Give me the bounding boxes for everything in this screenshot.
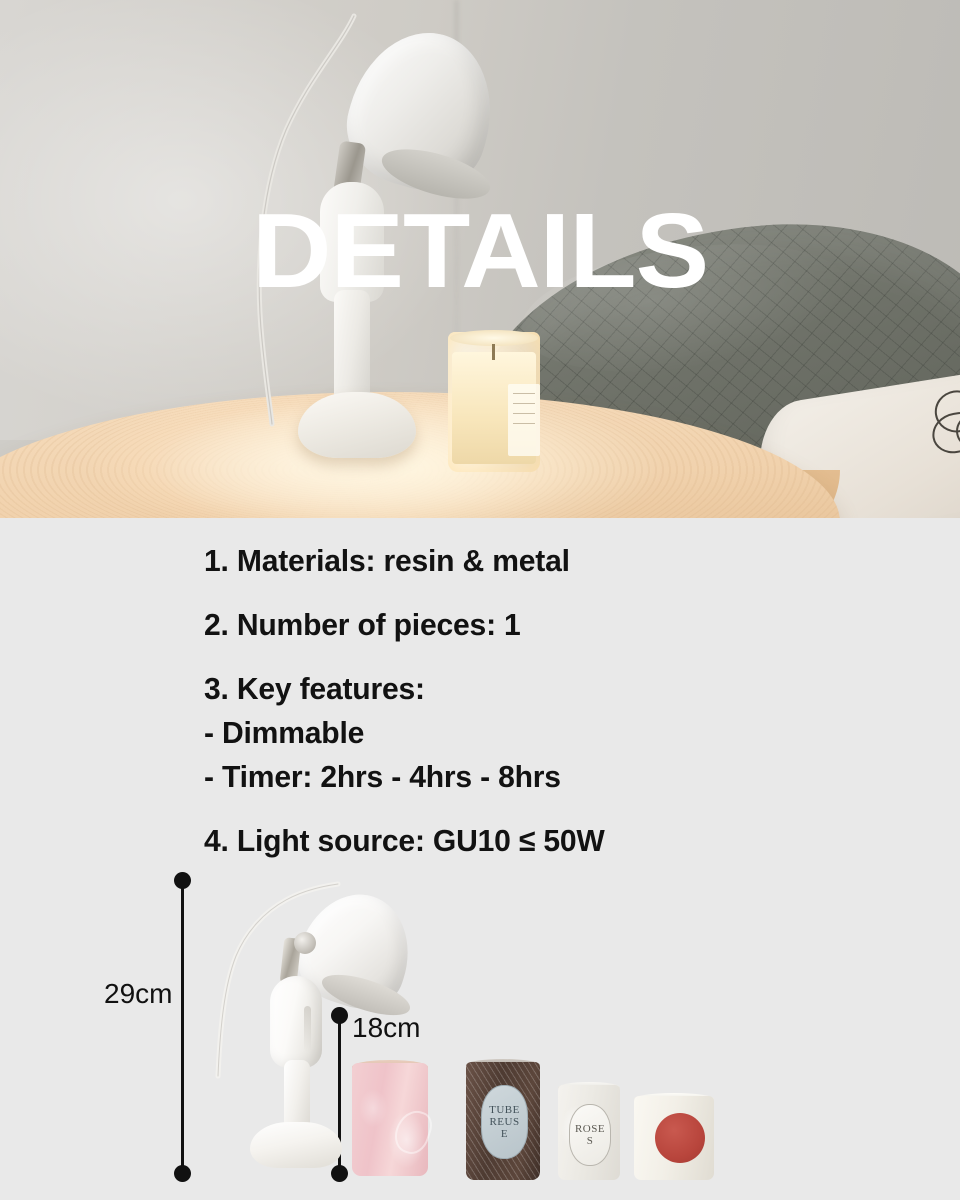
- hero-photo: DETAILS: [0, 0, 960, 518]
- lamp-joint-cap-product: [294, 932, 316, 954]
- height-dimension-dot-top: [174, 872, 191, 889]
- lamp-body-product: [270, 976, 322, 1068]
- product-detail-page: DETAILS 1. Materials: resin & metal 2. N…: [0, 0, 960, 1200]
- spec-item-timer: - Timer: 2hrs - 4hrs - 8hrs: [204, 756, 883, 798]
- lamp-base-product: [250, 1122, 342, 1168]
- specs-list: 1. Materials: resin & metal 2. Number of…: [204, 540, 904, 862]
- tubereuse-candle-label: TUBEREUSE: [481, 1085, 528, 1159]
- spec-item-light-source: 4. Light source: GU10 ≤ 50W: [204, 820, 883, 862]
- roses-candle-label: ROSES: [569, 1104, 611, 1166]
- candle-label-photo: [508, 384, 540, 456]
- spec-item-key-features: 3. Key features:: [204, 668, 883, 710]
- tubereuse-candle-label-text: TUBEREUSE: [482, 1104, 527, 1140]
- red-circle-motif: [655, 1113, 705, 1163]
- height-dimension-label: 29cm: [104, 978, 172, 1010]
- height-dimension-dot-bottom: [174, 1165, 191, 1182]
- roses-candle-label-text: ROSES: [570, 1123, 610, 1147]
- spec-item-dimmable: - Dimmable: [204, 712, 883, 754]
- page-title: DETAILS: [0, 198, 960, 304]
- spec-item-materials: 1. Materials: resin & metal: [204, 540, 883, 582]
- candle-wick-photo: [492, 344, 495, 360]
- lamp-base-photo: [298, 392, 416, 458]
- spec-item-pieces: 2. Number of pieces: 1: [204, 604, 883, 646]
- lamp-body-fold-product: [304, 1006, 311, 1052]
- height-dimension-line: [181, 880, 184, 1175]
